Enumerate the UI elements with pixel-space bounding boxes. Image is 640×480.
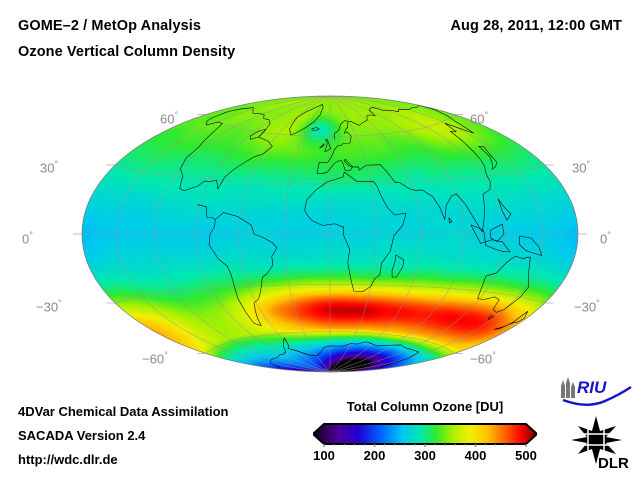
lat-label-right-8: −30° <box>574 298 600 314</box>
lat-label-value: −30 <box>36 299 58 314</box>
colorbar <box>313 421 537 447</box>
colorbar-tick-label: 300 <box>414 448 436 463</box>
lat-label-value: 30 <box>40 160 54 175</box>
degree-symbol: ° <box>607 230 611 240</box>
lat-label-value: −30 <box>574 299 596 314</box>
degree-symbol: ° <box>586 159 590 169</box>
degree-symbol: ° <box>164 350 168 360</box>
lat-label-value: −60 <box>142 351 164 366</box>
dlr-logo-text: DLR <box>598 455 629 470</box>
ozone-map <box>0 84 640 384</box>
colorbar-gradient <box>313 424 537 444</box>
dlr-logo: DLR <box>566 414 634 470</box>
timestamp-label: Aug 28, 2011, 12:00 GMT <box>450 18 622 34</box>
lat-label-left-0: 60° <box>160 110 178 126</box>
colorbar-tick-labels: 100200300400500 <box>303 448 547 468</box>
lat-label-value: 60 <box>160 111 174 126</box>
lat-label-right-5: 60° <box>470 110 488 126</box>
lat-label-left-3: −30° <box>36 298 62 314</box>
lat-label-left-1: 30° <box>40 159 58 175</box>
degree-symbol: ° <box>54 159 58 169</box>
lat-label-value: −60 <box>470 351 492 366</box>
lat-label-left-2: 0° <box>22 230 33 246</box>
colorbar-tick-label: 200 <box>364 448 386 463</box>
riu-towers-icon <box>561 377 575 398</box>
lat-label-right-6: 30° <box>572 159 590 175</box>
degree-symbol: ° <box>174 110 178 120</box>
lat-label-value: 30 <box>572 160 586 175</box>
page-title: GOME–2 / MetOp Analysis <box>18 18 201 34</box>
colorbar-tick-label: 100 <box>313 448 335 463</box>
lat-label-right-9: −60° <box>470 350 496 366</box>
page-subtitle: Ozone Vertical Column Density <box>18 44 235 60</box>
degree-symbol: ° <box>29 230 33 240</box>
degree-symbol: ° <box>58 298 62 308</box>
lat-label-left-4: −60° <box>142 350 168 366</box>
colorbar-ticks <box>324 444 526 447</box>
colorbar-svg <box>313 421 537 447</box>
colorbar-tick-label: 400 <box>465 448 487 463</box>
ozone-map-canvas <box>0 84 640 384</box>
riu-logo-text: RIU <box>577 378 607 397</box>
lat-label-right-7: 0° <box>600 230 611 246</box>
colorbar-tick-label: 500 <box>515 448 537 463</box>
footer-url-link[interactable]: http://wdc.dlr.de <box>18 452 118 467</box>
footer-version-label: SACADA Version 2.4 <box>18 428 145 443</box>
degree-symbol: ° <box>484 110 488 120</box>
footer-assimilation-label: 4DVar Chemical Data Assimilation <box>18 404 229 419</box>
degree-symbol: ° <box>492 350 496 360</box>
degree-symbol: ° <box>596 298 600 308</box>
riu-logo: RIU <box>557 376 635 410</box>
lat-label-value: 60 <box>470 111 484 126</box>
colorbar-title: Total Column Ozone [DU] <box>320 399 530 414</box>
